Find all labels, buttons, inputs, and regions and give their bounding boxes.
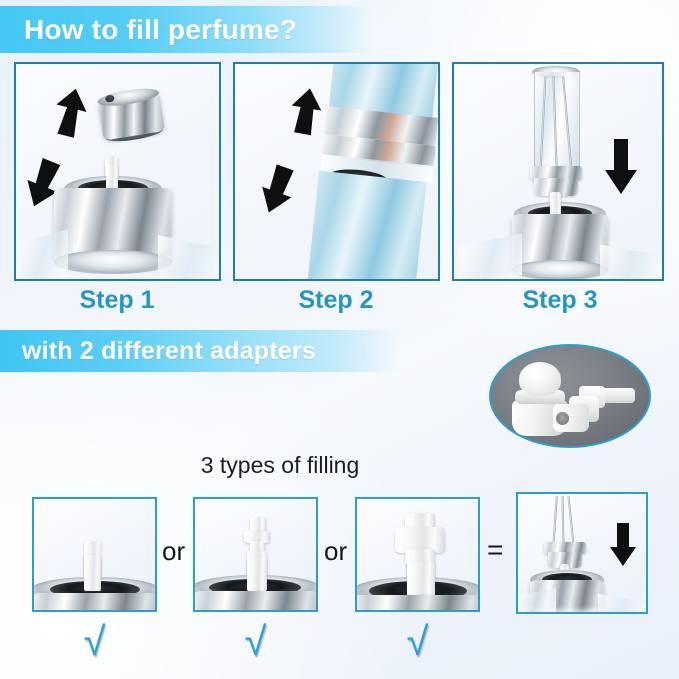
glass-bottle-right-graphic: [600, 245, 662, 281]
step-1-label: Step 1: [12, 286, 222, 315]
connector-equals: =: [487, 534, 503, 566]
step-3-illustration: [452, 62, 664, 281]
white-nozzle-front-graphic: [407, 563, 435, 597]
pump-body-graphic: [193, 591, 318, 612]
step-1-illustration: [14, 62, 221, 281]
white-nozzle-front-graphic: [247, 557, 267, 591]
step-2-illustration: [233, 62, 440, 281]
page-title: How to fill perfume?: [0, 6, 372, 53]
white-nozzle-front-graphic: [84, 555, 101, 591]
step-2-label: Step 2: [231, 286, 441, 315]
adapters-banner-text: with 2 different adapters: [22, 337, 316, 366]
pump-body-graphic: [32, 593, 157, 612]
atomizer-lower-tube-graphic: [308, 171, 427, 281]
filling-type-2-illustration: [193, 497, 318, 612]
filling-result-illustration: [516, 492, 648, 614]
glass-bottle-right-graphic: [158, 235, 221, 281]
step-3-label: Step 3: [455, 286, 665, 315]
down-arrow-icon: [606, 520, 640, 568]
adapters-banner: with 2 different adapters: [0, 330, 400, 372]
straw-icon: [552, 496, 557, 548]
adapters-photo-circle: [489, 344, 651, 448]
glass-bottle-right-graphic: [598, 594, 646, 614]
checkmark-3: √: [355, 622, 480, 662]
down-arrow-icon: [600, 136, 642, 196]
pump-body-graphic: [355, 595, 480, 612]
down-arrow-icon: [257, 162, 297, 216]
filling-section-title: 3 types of filling: [0, 452, 560, 479]
checkmark-2: √: [193, 622, 318, 662]
filling-type-3-illustration: [355, 497, 480, 612]
checkmark-1: √: [32, 622, 157, 662]
page-title-text: How to fill perfume?: [24, 14, 297, 46]
glass-bottle-graphic: [516, 588, 556, 614]
up-arrow-icon: [287, 86, 325, 136]
up-arrow-icon: [50, 86, 90, 138]
pump-body-bottom-graphic: [54, 250, 172, 274]
straw-icon: [567, 496, 574, 546]
narrow-adapter-graphic: [553, 382, 637, 434]
white-nozzle-front-graphic: [106, 164, 118, 190]
pump-body-bottom-graphic: [512, 260, 608, 280]
infographic-page: How to fill perfume?: [0, 0, 679, 679]
filling-type-1-illustration: [32, 497, 157, 612]
connector-or-1: or: [162, 536, 185, 567]
glass-bottle-graphic: [458, 233, 522, 281]
chrome-cap-graphic: [96, 83, 165, 144]
glass-bottle-graphic: [16, 230, 68, 281]
connector-or-2: or: [324, 536, 347, 567]
